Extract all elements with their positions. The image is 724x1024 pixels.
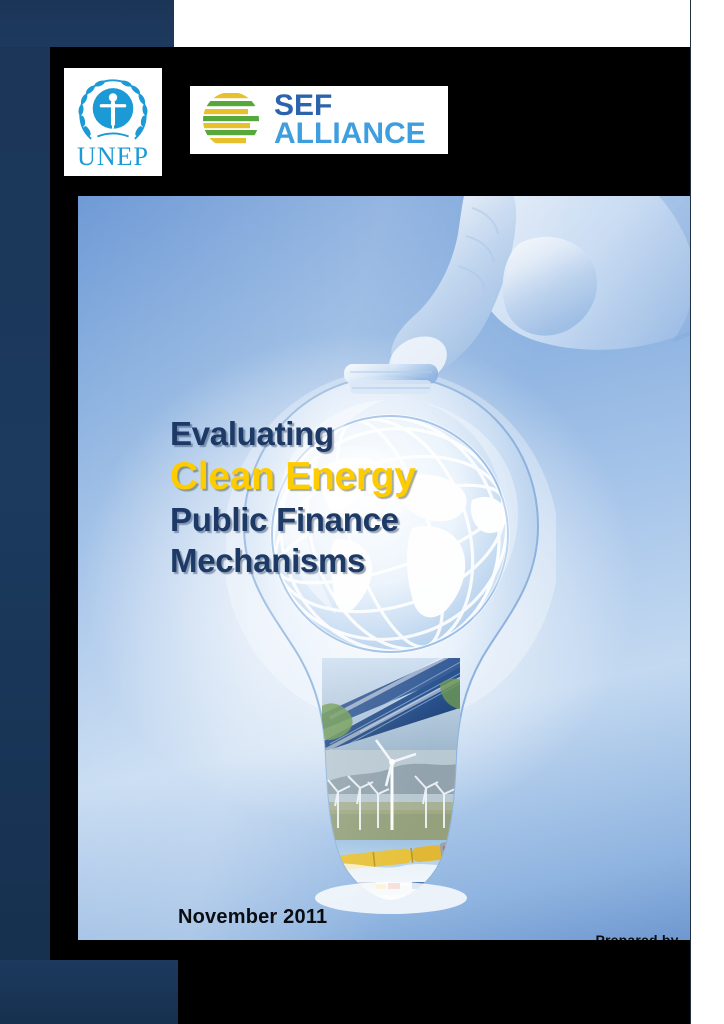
right-white-margin bbox=[690, 0, 724, 1024]
navy-top-block bbox=[0, 0, 174, 47]
sef-striped-globe-icon bbox=[194, 89, 268, 151]
prepared-by-label: Prepared by bbox=[544, 932, 690, 940]
prepared-by-block: Prepared by IRBARIS strategy | sustainab… bbox=[544, 932, 690, 940]
navy-bottom-block bbox=[0, 960, 178, 1024]
unep-laurel-emblem-icon bbox=[74, 74, 152, 146]
document-cover-page: UNEP SEF ALLIANCE bbox=[0, 0, 724, 1024]
sef-wordmark-line2: ALLIANCE bbox=[274, 120, 426, 148]
sef-alliance-logo: SEF ALLIANCE bbox=[190, 86, 448, 154]
sef-wordmark-group: SEF ALLIANCE bbox=[274, 92, 426, 147]
title-line-2: Clean Energy bbox=[170, 454, 500, 500]
cover-title-block: Evaluating Clean Energy Public Finance M… bbox=[170, 414, 500, 581]
publication-date: November 2011 bbox=[178, 906, 327, 929]
right-hairline-rule bbox=[690, 0, 691, 1024]
title-line-4: Mechanisms bbox=[170, 541, 500, 581]
lightbulb-globe-cover-art: Evaluating Clean Energy Public Finance M… bbox=[78, 196, 690, 940]
title-line-1: Evaluating bbox=[170, 414, 500, 454]
navy-left-bar bbox=[0, 0, 50, 962]
hand-holding-bulb-icon bbox=[326, 196, 690, 412]
sef-wordmark-line1: SEF bbox=[274, 92, 426, 120]
black-footer-band bbox=[178, 940, 690, 1024]
unep-wordmark: UNEP bbox=[77, 144, 149, 170]
title-line-3: Public Finance bbox=[170, 500, 500, 540]
unep-logo: UNEP bbox=[64, 68, 162, 176]
